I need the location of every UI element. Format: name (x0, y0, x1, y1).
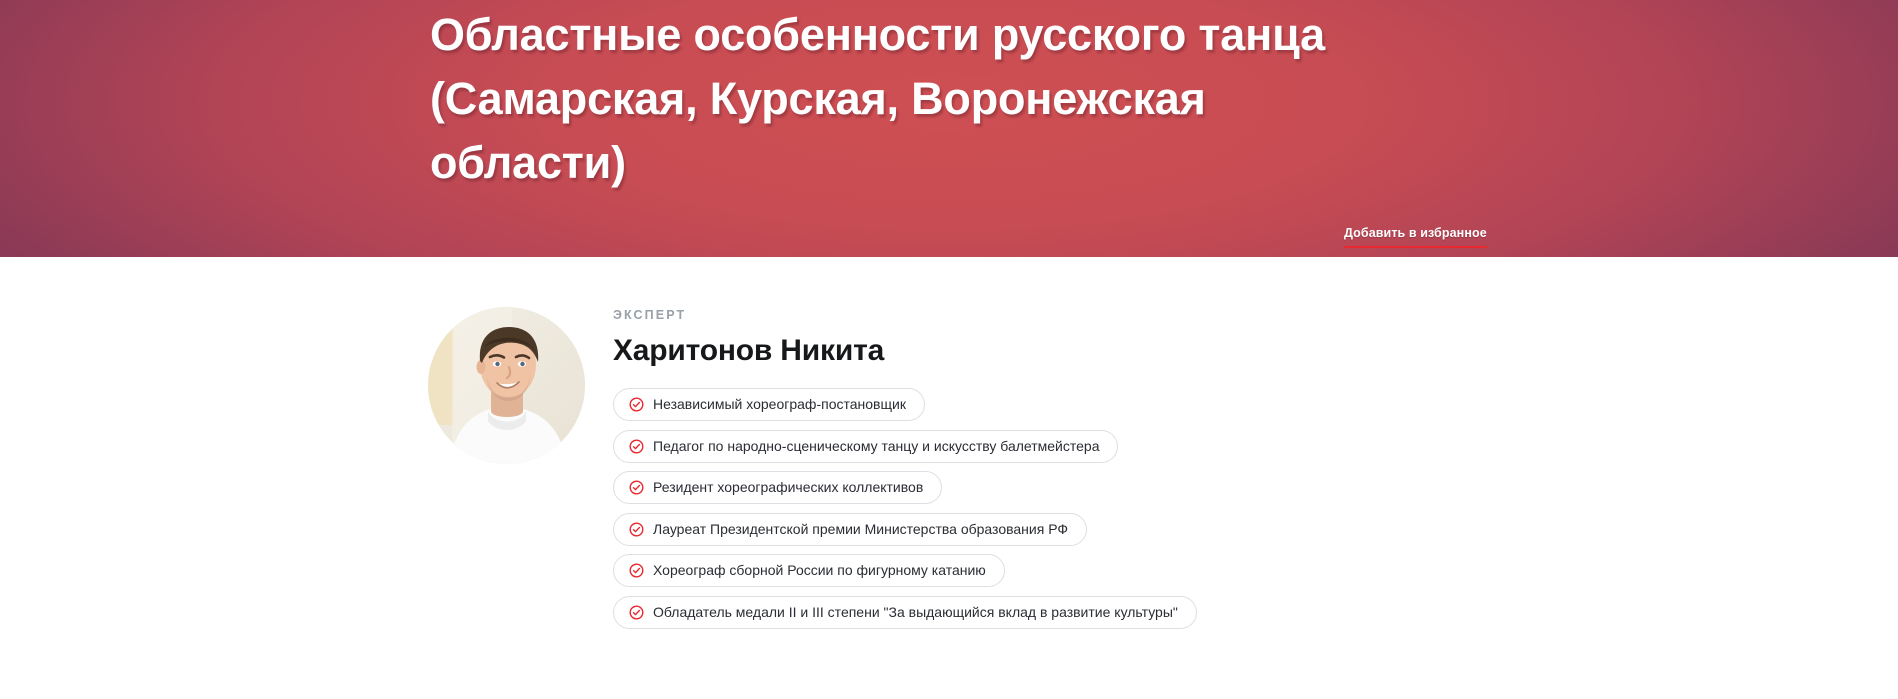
credential-chip-label: Независимый хореограф-постановщик (653, 397, 906, 412)
check-circle-icon (629, 605, 644, 620)
check-circle-icon (629, 397, 644, 412)
credential-chip-list: Независимый хореограф-постановщикПедагог… (613, 388, 1713, 629)
expert-section: ЭКСПЕРТ Харитонов Никита Независимый хор… (0, 257, 1898, 699)
credential-chip: Лауреат Президентской премии Министерств… (613, 513, 1087, 546)
page-title: Областные особенности русского танца (Са… (430, 3, 1390, 195)
hero-banner: Областные особенности русского танца (Са… (0, 0, 1898, 257)
credential-chip: Обладатель медали II и III степени "За в… (613, 596, 1197, 629)
expert-name: Харитонов Никита (613, 332, 1713, 370)
check-circle-icon (629, 522, 644, 537)
avatar (428, 307, 585, 464)
check-circle-icon (629, 480, 644, 495)
check-circle-icon (629, 563, 644, 578)
credential-chip: Независимый хореограф-постановщик (613, 388, 925, 421)
check-circle-icon (629, 439, 644, 454)
credential-chip: Педагог по народно-сценическому танцу и … (613, 430, 1118, 463)
credential-chip-label: Хореограф сборной России по фигурному ка… (653, 563, 986, 578)
credential-chip-label: Обладатель медали II и III степени "За в… (653, 605, 1178, 620)
add-to-favorites-link[interactable]: Добавить в избранное (1344, 226, 1487, 248)
page-root: Областные особенности русского танца (Са… (0, 0, 1898, 699)
expert-info: ЭКСПЕРТ Харитонов Никита Независимый хор… (613, 307, 1713, 629)
credential-chip-label: Педагог по народно-сценическому танцу и … (653, 439, 1099, 454)
credential-chip: Резидент хореографических коллективов (613, 471, 942, 504)
expert-kicker: ЭКСПЕРТ (613, 307, 1713, 323)
credential-chip-label: Резидент хореографических коллективов (653, 480, 923, 495)
credential-chip-label: Лауреат Президентской премии Министерств… (653, 522, 1068, 537)
credential-chip: Хореограф сборной России по фигурному ка… (613, 554, 1005, 587)
